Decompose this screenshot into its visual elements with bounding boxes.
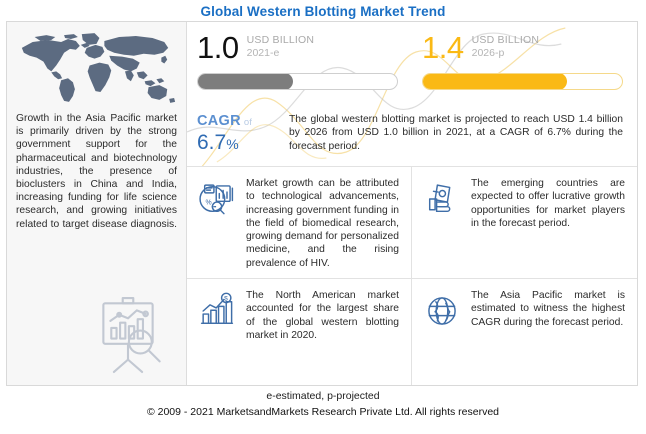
- insight-card-emerging-countries: The emerging countries are expected to o…: [412, 167, 637, 279]
- stat-2026: 1.4 USD BILLION 2026-p: [412, 22, 637, 107]
- insight-card-market-growth: % Market growth: [187, 167, 412, 279]
- stat-2026-bar-fill: [422, 73, 567, 90]
- cagr-figure: CAGRof 6.7%: [197, 111, 289, 156]
- svg-text:%: %: [205, 199, 211, 206]
- footer-note: e-estimated, p-projected: [0, 388, 646, 404]
- stat-2021-unit: USD BILLION: [247, 34, 315, 47]
- main-panel: 1.0 USD BILLION 2021-e 1.4 USD: [187, 22, 637, 385]
- footer: e-estimated, p-projected © 2009 - 2021 M…: [0, 388, 646, 420]
- presentation-analytics-magnifier-icon: [84, 291, 172, 379]
- insight-card-asia-pacific: The Asia Pacific market is estimated to …: [412, 279, 637, 385]
- cagr-description: The global western blotting market is pr…: [289, 111, 623, 153]
- insight-card-market-growth-text: Market growth can be attributed to techn…: [246, 177, 399, 270]
- stat-2026-value: 1.4: [422, 31, 464, 64]
- cagr-value: 6.7%: [197, 131, 289, 156]
- page-title: Global Western Blotting Market Trend: [0, 0, 646, 20]
- globe-icon: [422, 291, 462, 331]
- svg-text:$: $: [224, 296, 228, 303]
- cagr-of-label: of: [244, 117, 252, 128]
- apac-body-text: Growth in the Asia Pacific market is pri…: [7, 108, 186, 231]
- infographic-page: Global Western Blotting Market Trend: [0, 0, 646, 434]
- stat-2021-year: 2021-e: [247, 47, 315, 60]
- insight-card-grid: % Market growth: [187, 167, 637, 385]
- stat-2021-bar-fill: [197, 73, 293, 90]
- insight-card-north-america-text: The North American market accounted for …: [246, 289, 399, 342]
- stat-2026-unit: USD BILLION: [472, 34, 540, 47]
- stat-2026-year: 2026-p: [472, 47, 540, 60]
- insight-card-north-america: $ The North American market accounted fo…: [187, 279, 412, 385]
- world-map-icon: [7, 22, 186, 108]
- cagr-value-number: 6.7: [197, 131, 226, 154]
- chart-magnifier-percent-icon: %: [197, 179, 237, 219]
- insight-card-emerging-countries-text: The emerging countries are expected to o…: [471, 177, 625, 230]
- hand-holding-money-icon: [422, 179, 462, 219]
- cagr-percent-symbol: %: [226, 136, 238, 152]
- stat-2021-bar-track: [197, 73, 398, 90]
- stat-2026-bar-track: [422, 73, 623, 90]
- cagr-label-row: CAGRof: [197, 112, 289, 130]
- footer-copyright: © 2009 - 2021 MarketsandMarkets Research…: [0, 404, 646, 420]
- cagr-band: CAGRof 6.7% The global western blotting …: [187, 107, 637, 167]
- cagr-label: CAGR: [197, 113, 241, 129]
- stat-2021-value: 1.0: [197, 31, 239, 64]
- bar-chart-growth-dollar-icon: $: [197, 291, 237, 331]
- apac-panel: Growth in the Asia Pacific market is pri…: [7, 22, 187, 385]
- stats-band: 1.0 USD BILLION 2021-e 1.4 USD: [187, 22, 637, 107]
- stat-2021: 1.0 USD BILLION 2021-e: [187, 22, 412, 107]
- insight-card-asia-pacific-text: The Asia Pacific market is estimated to …: [471, 289, 625, 329]
- content-frame: Growth in the Asia Pacific market is pri…: [6, 21, 638, 386]
